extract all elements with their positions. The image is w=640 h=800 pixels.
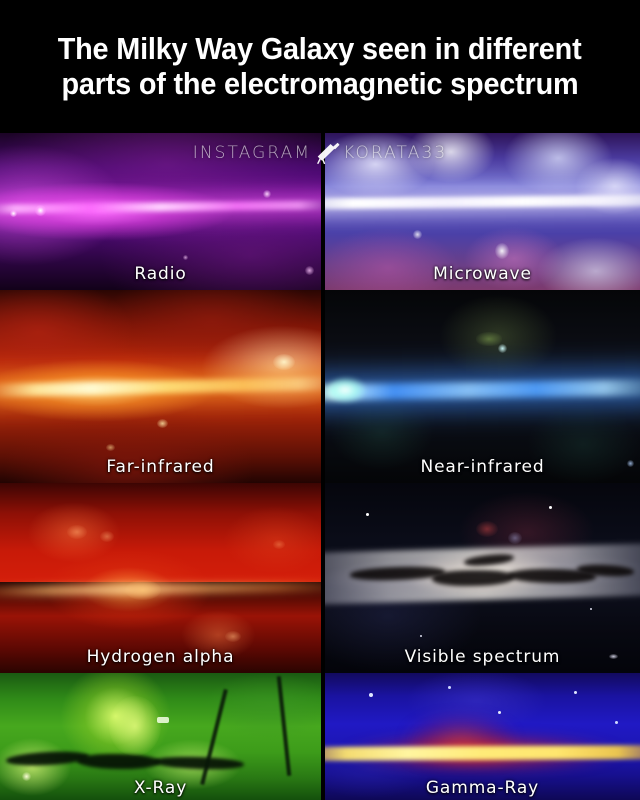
x-ray-dark-band <box>154 755 244 770</box>
galactic-plane-band <box>325 195 640 210</box>
panel-far-infrared: Far-infrared <box>0 290 321 483</box>
panel-label-hydrogen-alpha: Hydrogen alpha <box>0 647 321 667</box>
x-ray-streak <box>200 689 228 785</box>
galactic-plane-band <box>325 380 640 401</box>
title-block: The Milky Way Galaxy seen in different p… <box>0 0 640 133</box>
near-infrared-sky-image <box>325 290 640 483</box>
panel-near-infrared: Near-infrared <box>325 290 640 483</box>
panel-row-2: Far-infrared Near-infrared <box>0 290 640 483</box>
galactic-plane-band <box>325 745 640 761</box>
galactic-plane-band <box>0 200 321 213</box>
panel-x-ray: X-Ray <box>0 673 321 800</box>
panel-label-gamma-ray: Gamma-Ray <box>325 778 640 798</box>
far-infrared-sky-image <box>0 290 321 483</box>
x-ray-streak <box>277 676 291 776</box>
visible-spectrum-sky-image <box>325 483 640 673</box>
panel-gamma-ray: Gamma-Ray <box>325 673 640 800</box>
panel-label-near-infrared: Near-infrared <box>325 457 640 477</box>
meme-image: The Milky Way Galaxy seen in different p… <box>0 0 640 800</box>
panel-hydrogen-alpha: Hydrogen alpha <box>0 483 321 673</box>
panel-label-radio: Radio <box>0 264 321 284</box>
panel-label-far-infrared: Far-infrared <box>0 457 321 477</box>
panel-row-3: Hydrogen alpha V <box>0 483 640 673</box>
galactic-plane-band <box>0 376 321 396</box>
galactic-core-glow <box>328 377 366 403</box>
title-line-1: The Milky Way Galaxy seen in different <box>58 32 582 67</box>
galactic-plane-band <box>0 582 321 597</box>
panel-label-x-ray: X-Ray <box>0 778 321 798</box>
panel-row-4: X-Ray Gamma-Ray <box>0 673 640 800</box>
panel-label-microwave: Microwave <box>325 264 640 284</box>
spectrum-panel-grid: Radio Microwave Far-infr <box>0 133 640 800</box>
panel-visible-spectrum: Visible spectrum <box>325 483 640 673</box>
panel-label-visible-spectrum: Visible spectrum <box>325 647 640 667</box>
panel-microwave: Microwave <box>325 133 640 290</box>
panel-row-1: Radio Microwave <box>0 133 640 290</box>
title-line-2: parts of the electromagnetic spectrum <box>61 67 578 102</box>
hydrogen-alpha-sky-image <box>0 483 321 673</box>
panel-radio: Radio <box>0 133 321 290</box>
x-ray-dark-band <box>77 754 161 770</box>
